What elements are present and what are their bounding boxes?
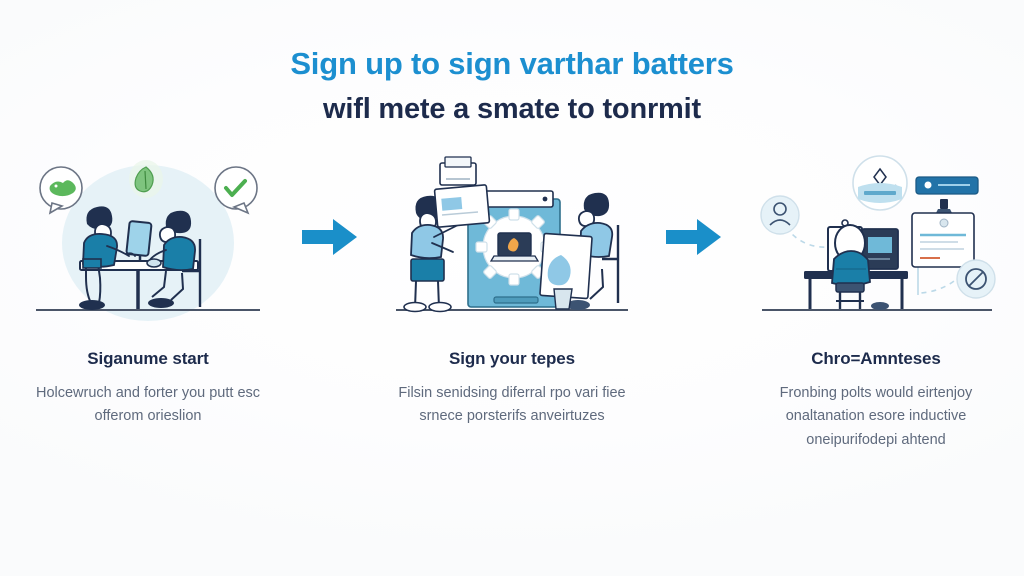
document-card-icon — [434, 185, 489, 227]
step-2-title: Sign your tepes — [384, 349, 640, 369]
step-3-caption: Chro=Amnteses Fronbing polts would eirte… — [731, 327, 1021, 452]
page-title-line-1: Sign up to sign varthar batters — [290, 44, 733, 84]
step-2-caption: Sign your tepes Filsin senidsing diferra… — [367, 327, 657, 429]
page-title: Sign up to sign varthar batters wifl met… — [290, 44, 733, 129]
person-circle-icon — [761, 196, 799, 234]
two-people-at-desk-with-monitor-illustration — [14, 151, 282, 323]
badge-circle-icon — [853, 156, 907, 210]
step-3-body: Fronbing polts would eirtenjoy onaltanat… — [748, 382, 1004, 452]
arrow-step-1-to-2 — [293, 151, 367, 323]
step-2 — [367, 151, 657, 323]
desktop-monitor — [126, 221, 151, 261]
infographic-canvas: Sign up to sign varthar batters wifl met… — [0, 0, 1024, 576]
person-at-workstation-with-floating-icons-illustration — [742, 151, 1010, 323]
steps-illustration-row — [0, 151, 1024, 323]
blue-tag-icon — [916, 177, 978, 194]
arrow-step-2-to-3 — [657, 151, 731, 323]
certificate-card-icon — [912, 199, 974, 267]
step-1-caption: Siganume start Holcewruch and forter you… — [3, 327, 293, 429]
step-1 — [3, 151, 293, 323]
leaf-sprout-icon — [129, 160, 163, 198]
step-3 — [731, 151, 1021, 323]
step-1-body: Holcewruch and forter you putt esc offer… — [20, 382, 276, 429]
printer-icon — [440, 157, 476, 185]
no-entry-circle-icon — [957, 260, 995, 298]
steps-caption-row: Siganume start Holcewruch and forter you… — [0, 327, 1024, 452]
two-people-with-board-and-gear-illustration — [378, 151, 646, 323]
step-1-title: Siganume start — [20, 349, 276, 369]
step-2-body: Filsin senidsing diferral rpo vari fiee … — [384, 382, 640, 429]
step-3-title: Chro=Amnteses — [748, 349, 1004, 369]
page-title-line-2: wifl mete a smate to tonrmit — [290, 91, 733, 129]
